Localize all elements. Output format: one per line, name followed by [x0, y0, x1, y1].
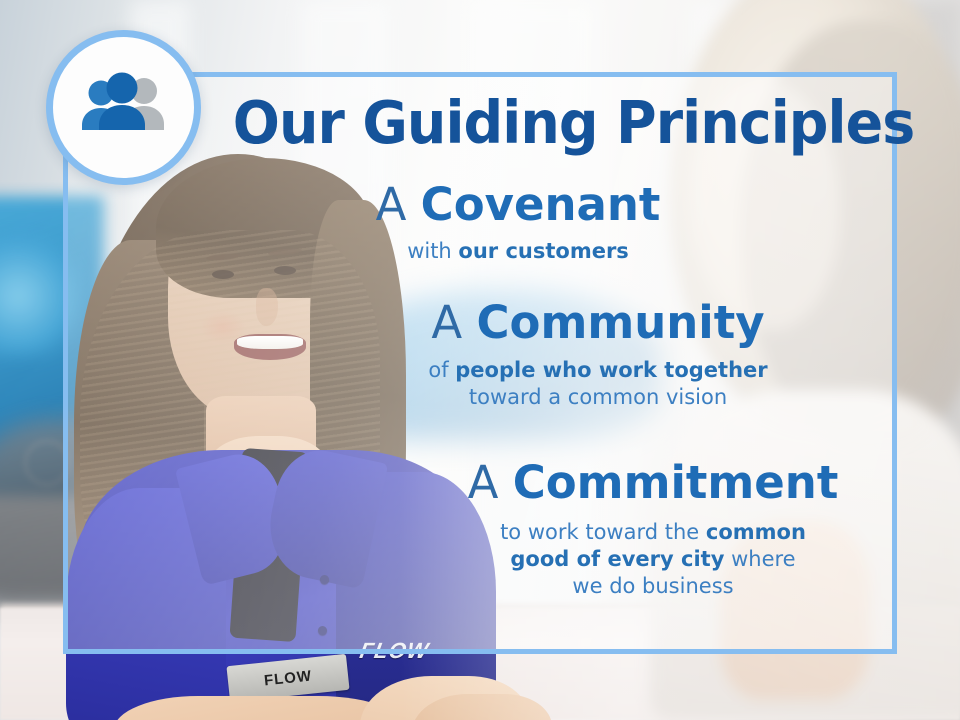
employee-smile	[234, 334, 306, 360]
principle-article: A	[468, 456, 499, 509]
guiding-principles-graphic: FLOW FLOW Our Guidin	[0, 0, 960, 720]
principle-subtext-covenant: with our customers	[318, 238, 718, 265]
people-group-icon	[76, 72, 172, 144]
sub-line: toward a common vision	[368, 384, 828, 411]
principle-keyword: Covenant	[421, 178, 661, 231]
principle-title-community: A Community	[368, 300, 828, 347]
principle-subtext-commitment: to work toward the common good of every …	[418, 519, 888, 601]
sub-emphasis: our customers	[458, 239, 628, 263]
principle-block-community: A Community of people who work together …	[368, 300, 828, 411]
people-badge	[46, 30, 201, 185]
principle-article: A	[431, 296, 462, 349]
principle-block-covenant: A Covenant with our customers	[318, 182, 718, 265]
sub-line: to work toward the common	[418, 519, 888, 546]
sub-line: of people who work together	[368, 357, 828, 384]
sub-line: good of every city where	[418, 546, 888, 573]
principle-subtext-community: of people who work together toward a com…	[368, 357, 828, 412]
employee-eye	[274, 266, 296, 275]
page-title: Our Guiding Principles	[233, 93, 853, 153]
principle-block-commitment: A Commitment to work toward the common g…	[418, 460, 888, 601]
principle-title-commitment: A Commitment	[418, 460, 888, 507]
employee-nose	[256, 288, 278, 326]
sub-line: with our customers	[407, 239, 629, 263]
principle-keyword: Commitment	[513, 456, 839, 509]
principle-article: A	[376, 178, 407, 231]
employee-eye	[212, 270, 234, 279]
sub-emphasis: good of every city	[510, 547, 724, 571]
sub-emphasis: people who work together	[455, 358, 767, 382]
employee-shirt-button	[318, 626, 327, 635]
employee-chest-logo: FLOW	[358, 640, 431, 662]
principle-keyword: Community	[477, 296, 765, 349]
sub-emphasis: common	[706, 520, 806, 544]
employee-shirt-button	[320, 575, 329, 584]
employee-teeth	[237, 336, 303, 349]
principle-title-covenant: A Covenant	[318, 182, 718, 229]
sub-line: we do business	[418, 573, 888, 600]
